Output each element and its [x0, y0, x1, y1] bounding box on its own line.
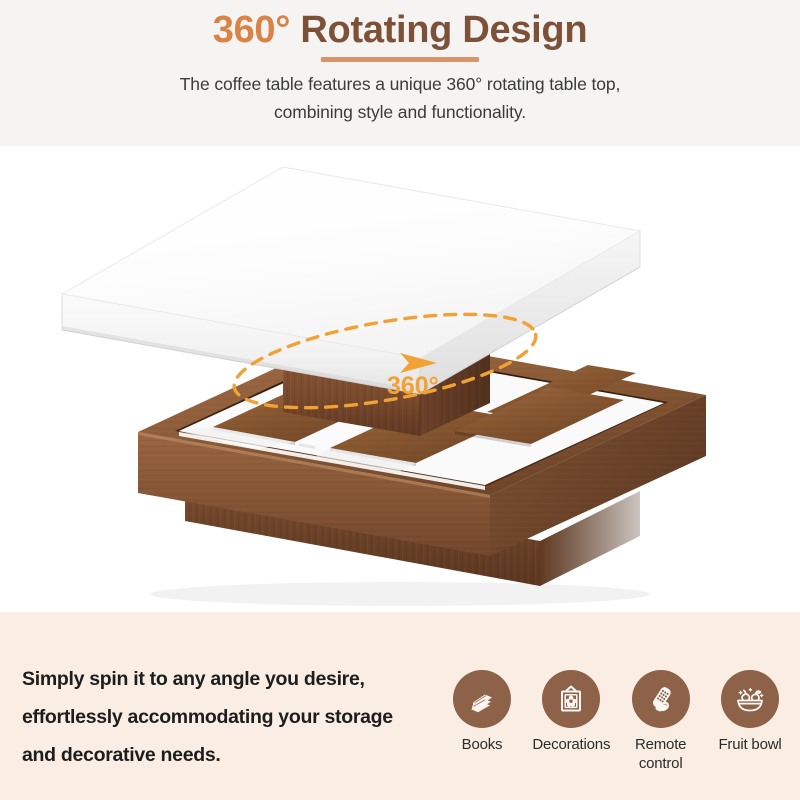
- footer-headline-line-2: effortlessly accommodating your storage: [22, 698, 432, 736]
- feature-item-books: Books: [440, 670, 524, 754]
- feature-label-remote-control: Remote control: [635, 735, 686, 773]
- books-icon-circle: [453, 670, 511, 728]
- footer-headline-line-1: Simply spin it to any angle you desire,: [22, 660, 432, 698]
- feature-label-books: Books: [462, 735, 503, 754]
- feature-item-fruit-bowl: Fruit bowl: [708, 670, 792, 754]
- page-title-rest: Rotating Design: [290, 9, 587, 51]
- title-underline-rule: [321, 57, 479, 62]
- feature-icon-row: Books: [440, 670, 792, 773]
- remote-control-icon-circle: [632, 670, 690, 728]
- feature-label-decorations: Decorations: [532, 735, 610, 754]
- product-image-stage: 360°: [0, 146, 800, 612]
- product-feature-infographic: 360° Rotating Design The coffee table fe…: [0, 0, 800, 800]
- feature-item-decorations: Decorations: [529, 670, 613, 754]
- page-subtitle: The coffee table features a unique 360° …: [0, 70, 800, 126]
- fruit-bowl-icon: [732, 681, 768, 717]
- footer-headline-line-3: and decorative needs.: [22, 736, 432, 774]
- page-subtitle-line-1: The coffee table features a unique 360° …: [0, 70, 800, 98]
- rotating-table-top: [62, 167, 640, 394]
- feature-label-remote-line-1: Remote: [635, 736, 686, 753]
- footer-headline: Simply spin it to any angle you desire, …: [22, 660, 432, 774]
- feature-item-remote-control: Remote control: [619, 670, 703, 773]
- page-subtitle-line-2: combining style and functionality.: [0, 98, 800, 126]
- rotation-badge-label: 360°: [387, 372, 439, 400]
- picture-frame-icon: [554, 682, 588, 716]
- feature-label-remote-line-2: control: [639, 755, 683, 772]
- coffee-table-illustration: 360°: [0, 146, 800, 612]
- picture-frame-icon-circle: [542, 670, 600, 728]
- books-icon: [465, 682, 499, 716]
- footer-band: Simply spin it to any angle you desire, …: [0, 612, 800, 800]
- feature-label-fruit-bowl: Fruit bowl: [718, 735, 781, 754]
- remote-control-icon: [644, 682, 678, 716]
- page-title: 360° Rotating Design: [0, 8, 800, 52]
- header-band: 360° Rotating Design The coffee table fe…: [0, 0, 800, 146]
- page-title-highlight: 360°: [213, 9, 290, 51]
- fruit-bowl-icon-circle: [721, 670, 779, 728]
